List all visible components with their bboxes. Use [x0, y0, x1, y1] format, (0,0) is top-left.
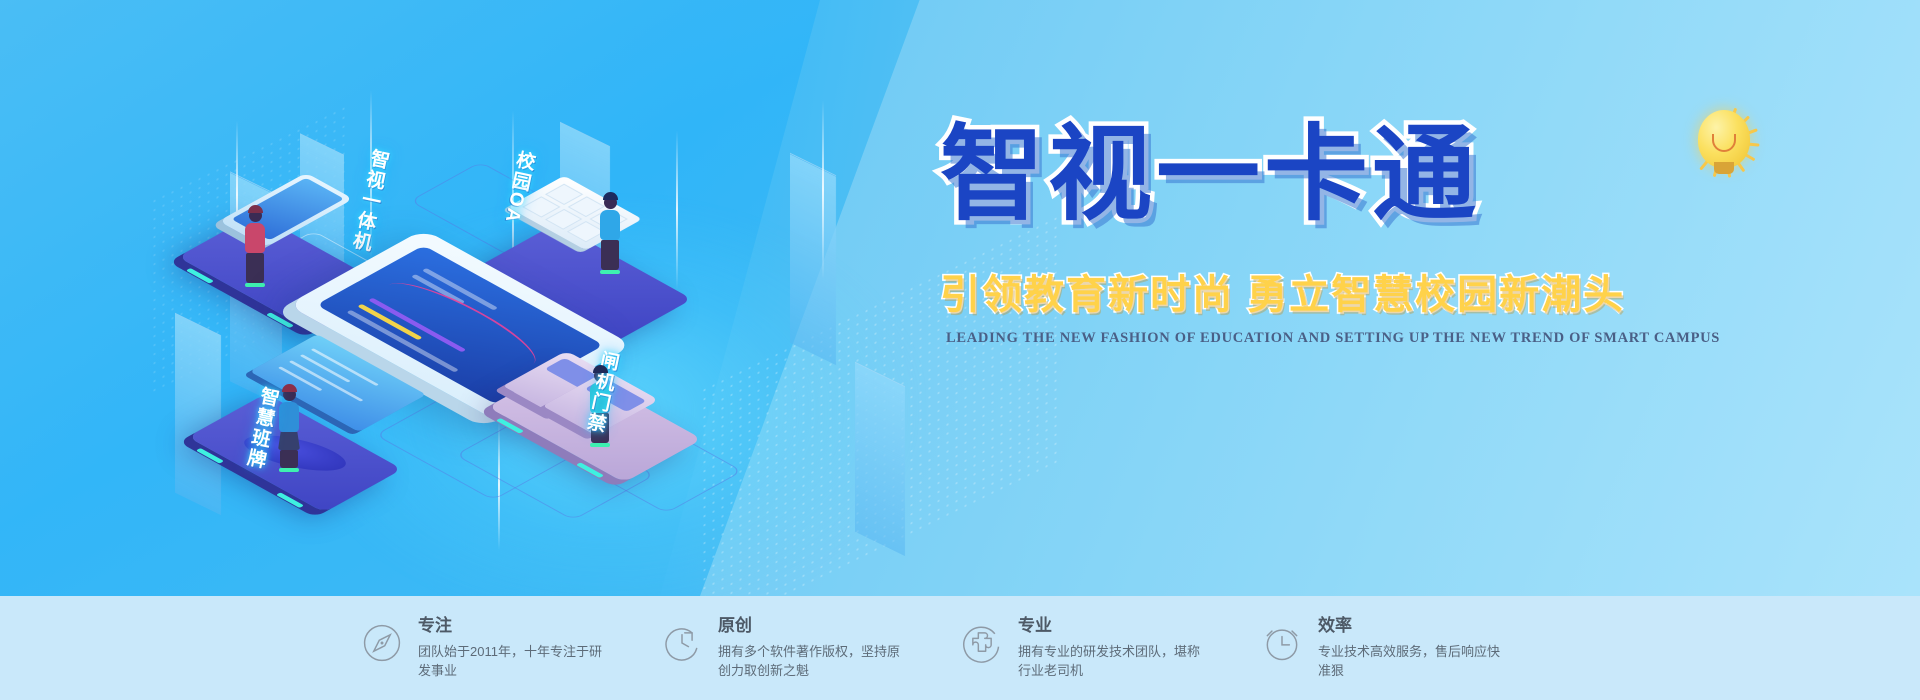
feature-description: 团队始于2011年，十年专注于研发事业: [418, 642, 608, 681]
person-figure-2: [600, 192, 620, 274]
feature-text: 原创 拥有多个软件著作版权，坚持原创力取创新之魁: [718, 615, 908, 680]
feature-text: 专业 拥有专业的研发技术团队，堪称行业老司机: [1018, 615, 1208, 680]
person-figure-1: [245, 205, 265, 287]
feature-description: 拥有专业的研发技术团队，堪称行业老司机: [1018, 642, 1208, 681]
feature-bar: 专注 团队始于2011年，十年专注于研发事业 原创 拥有多个软件著作版权，坚持原…: [0, 596, 1920, 700]
feature-title: 专注: [418, 615, 608, 637]
label-smart-aio: 智视一体机: [345, 146, 393, 254]
stopwatch-icon: [660, 621, 704, 665]
feature-item-efficiency: 效率 专业技术高效服务，售后响应快准狠: [1260, 615, 1560, 680]
headline-block: 智视一卡通 引领教育新时尚 勇立智慧校园新潮头 LEADING THE NEW …: [940, 120, 1800, 347]
alarm-clock-icon: [1260, 621, 1304, 665]
feature-text: 专注 团队始于2011年，十年专注于研发事业: [418, 615, 608, 680]
feature-item-original: 原创 拥有多个软件著作版权，坚持原创力取创新之魁: [660, 615, 960, 680]
feature-description: 拥有多个软件著作版权，坚持原创力取创新之魁: [718, 642, 908, 681]
feature-description: 专业技术高效服务，售后响应快准狠: [1318, 642, 1508, 681]
feature-item-focus: 专注 团队始于2011年，十年专注于研发事业: [360, 615, 660, 680]
feature-title: 专业: [1018, 615, 1208, 637]
isometric-illustration: 智视一体机 校园OA: [160, 100, 920, 570]
puzzle-icon: [960, 621, 1004, 665]
feature-item-professional: 专业 拥有专业的研发技术团队，堪称行业老司机: [960, 615, 1260, 680]
page-subtitle-english: LEADING THE NEW FASHION OF EDUCATION AND…: [946, 330, 1646, 347]
feature-text: 效率 专业技术高效服务，售后响应快准狠: [1318, 615, 1508, 680]
hero-banner: 智视一体机 校园OA: [0, 0, 1920, 700]
feature-title: 原创: [718, 615, 908, 637]
main-title-wrapper: 智视一卡通: [940, 120, 1800, 250]
feature-title: 效率: [1318, 615, 1508, 637]
compass-icon: [360, 621, 404, 665]
page-subtitle: 引领教育新时尚 勇立智慧校园新潮头: [940, 262, 1800, 320]
page-title: 智视一卡通: [940, 120, 1800, 229]
lightbulb-icon: [1676, 96, 1772, 192]
